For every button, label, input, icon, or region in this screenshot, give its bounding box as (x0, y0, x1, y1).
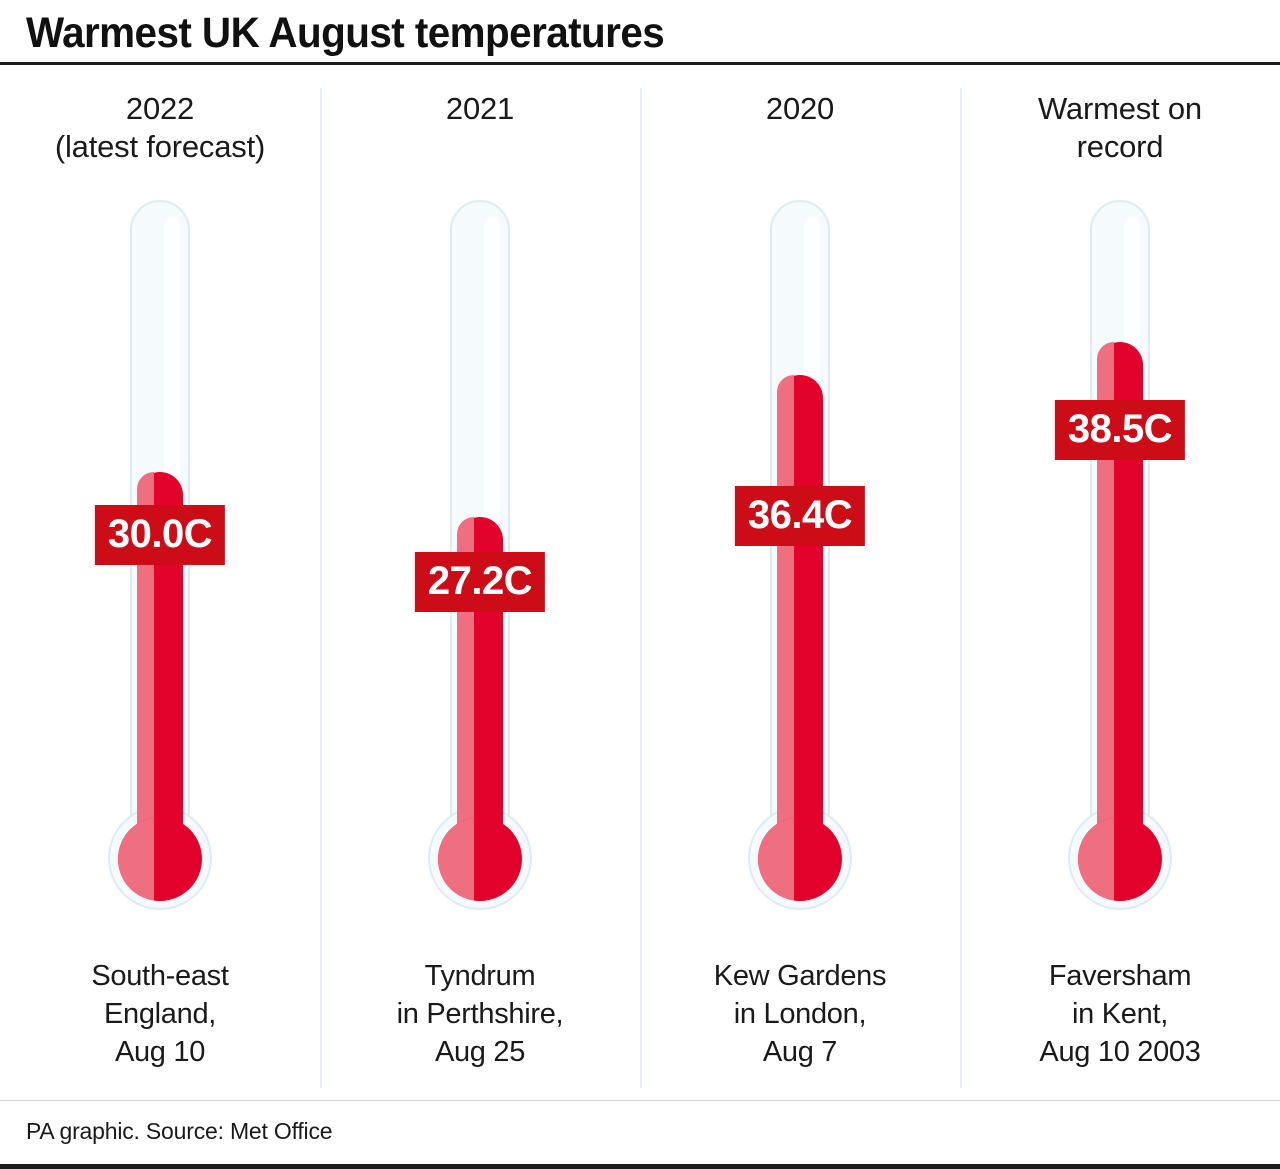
page-title: Warmest UK August temperatures (26, 9, 664, 58)
temperature-value-2021: 27.2C (415, 552, 545, 612)
column-header: 2020 (640, 90, 960, 128)
column-warmest-on-record: Warmest on record 38.5C Faversham in Ken… (960, 70, 1280, 1091)
column-caption: Faversham in Kent, Aug 10 2003 (960, 957, 1280, 1071)
mercury-bulb-highlight (758, 817, 794, 901)
thermometer-2021: 27.2C (428, 200, 532, 910)
thermometer-warmest-on-record: 38.5C (1068, 200, 1172, 910)
column-caption: Kew Gardens in London, Aug 7 (640, 957, 960, 1071)
bottom-rule (0, 1164, 1280, 1169)
mercury-bulb (118, 817, 202, 901)
caption-line2: in London, (640, 995, 960, 1033)
caption-line1: Faversham (960, 957, 1280, 995)
mercury-bulb (1078, 817, 1162, 901)
mercury-bulb-highlight (1078, 817, 1114, 901)
infographic-root: Warmest UK August temperatures 2022 (lat… (0, 0, 1280, 1169)
footer-credit: PA graphic. Source: Met Office (26, 1118, 332, 1145)
caption-line3: Aug 10 (0, 1033, 320, 1071)
column-caption: Tyndrum in Perthshire, Aug 25 (320, 957, 640, 1071)
column-separator (640, 88, 642, 1088)
thermometer-columns: 2022 (latest forecast) 30.0C South-east … (0, 70, 1280, 1091)
column-2021: 2021 27.2C Tyndrum in Perthshire, (320, 70, 640, 1091)
column-caption: South-east England, Aug 10 (0, 957, 320, 1071)
mercury-bulb-highlight (118, 817, 154, 901)
caption-line2: in Kent, (960, 995, 1280, 1033)
column-header-line1: 2021 (320, 90, 640, 128)
caption-line3: Aug 25 (320, 1033, 640, 1071)
column-header-line1: 2020 (640, 90, 960, 128)
column-header: Warmest on record (960, 90, 1280, 166)
column-separator (960, 88, 962, 1088)
caption-line3: Aug 10 2003 (960, 1033, 1280, 1071)
column-2022: 2022 (latest forecast) 30.0C South-east … (0, 70, 320, 1091)
column-header-line1: 2022 (0, 90, 320, 128)
mercury-column (777, 375, 823, 858)
caption-line1: Tyndrum (320, 957, 640, 995)
thermometer-2020: 36.4C (748, 200, 852, 910)
column-2020: 2020 36.4C Kew Gardens in London, (640, 70, 960, 1091)
caption-line3: Aug 7 (640, 1033, 960, 1071)
column-header-line2: record (960, 128, 1280, 166)
caption-line1: Kew Gardens (640, 957, 960, 995)
temperature-value-2022: 30.0C (95, 505, 225, 565)
title-divider (0, 62, 1280, 66)
column-separator (320, 88, 322, 1088)
column-header: 2022 (latest forecast) (0, 90, 320, 166)
temperature-value-warmest-on-record: 38.5C (1055, 400, 1185, 460)
mercury-bulb-highlight (438, 817, 474, 901)
title-block: Warmest UK August temperatures (0, 0, 1280, 66)
mercury-highlight (777, 375, 794, 858)
caption-line2: England, (0, 995, 320, 1033)
temperature-value-2020: 36.4C (735, 486, 865, 546)
footer-divider (0, 1100, 1280, 1101)
column-header-line1: Warmest on (960, 90, 1280, 128)
caption-line2: in Perthshire, (320, 995, 640, 1033)
caption-line1: South-east (0, 957, 320, 995)
mercury-bulb (758, 817, 842, 901)
mercury-bulb (438, 817, 522, 901)
thermometer-2022: 30.0C (108, 200, 212, 910)
column-header: 2021 (320, 90, 640, 128)
column-header-line2: (latest forecast) (0, 128, 320, 166)
